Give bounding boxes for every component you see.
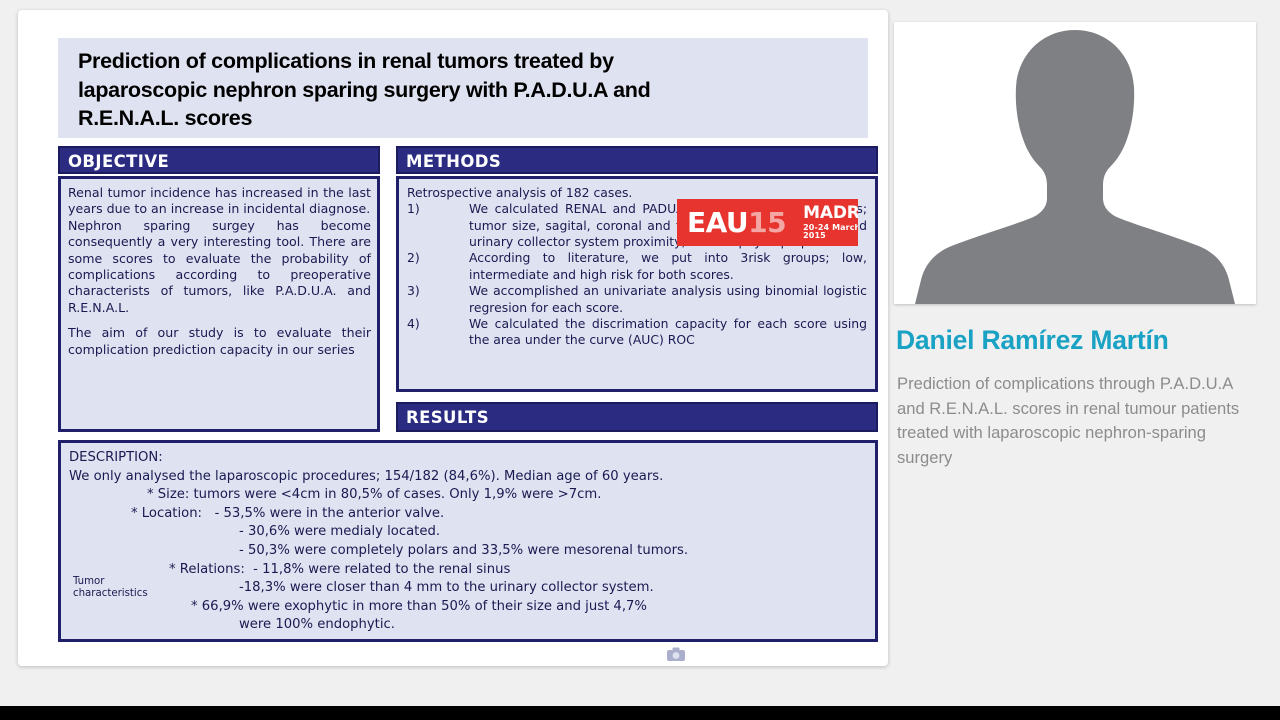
eau-logo-city: MADRID xyxy=(803,205,858,222)
tumor-characteristics-label-line-2: characteristics xyxy=(73,588,181,600)
tumor-characteristics-label: Tumor characteristics xyxy=(73,576,181,601)
camera-icon xyxy=(665,645,687,663)
objective-spacer xyxy=(68,316,371,325)
eau-congress-logo: EAU15 MADRID 20-24 March 2015 xyxy=(677,199,858,246)
screen-root: Prediction of complications in renal tum… xyxy=(0,0,1280,720)
methods-item: 4) We calculated the discrimation capaci… xyxy=(407,316,867,349)
results-line: * Size: tumors were <4cm in 80,5% of cas… xyxy=(69,486,867,505)
tumor-characteristics-label-line-1: Tumor xyxy=(73,576,181,588)
poster: Prediction of complications in renal tum… xyxy=(40,32,868,644)
objective-paragraph: Nephron sparing surgey has become conseq… xyxy=(68,218,371,316)
page-title-line-3: R.E.N.A.L. scores xyxy=(78,104,856,133)
objective-paragraph: The aim of our study is to evaluate thei… xyxy=(68,325,371,358)
eau-logo-year: 15 xyxy=(748,206,786,239)
methods-item-number: 4) xyxy=(407,316,469,349)
author-description: Prediction of complications through P.A.… xyxy=(897,372,1249,470)
methods-item-number: 1) xyxy=(407,201,469,250)
eau-logo-brand-text: EAU xyxy=(687,206,748,239)
eau-logo-brand: EAU15 xyxy=(677,209,786,237)
objective-paragraph: Renal tumor incidence has increased in t… xyxy=(68,185,371,218)
results-line: - 50,3% were completely polars and 33,5%… xyxy=(69,542,867,561)
camera-icon-svg xyxy=(665,645,687,663)
results-line: * 66,9% were exophytic in more than 50% … xyxy=(69,598,867,617)
methods-item: 3) We accomplished an univariate analysi… xyxy=(407,283,867,316)
poster-card[interactable]: Prediction of complications in renal tum… xyxy=(18,10,888,666)
author-name: Daniel Ramírez Martín xyxy=(896,322,1268,358)
bottom-black-bar xyxy=(0,706,1280,720)
page-title-line-2: laparoscopic nephron sparing surgery wit… xyxy=(78,76,856,105)
methods-section-header: METHODS xyxy=(396,146,878,174)
results-section-body: DESCRIPTION: We only analysed the laparo… xyxy=(58,440,878,642)
methods-item-text: We calculated the discrimation capacity … xyxy=(469,316,867,349)
methods-item-text: According to literature, we put into 3ri… xyxy=(469,250,867,283)
methods-item-number: 3) xyxy=(407,283,469,316)
results-line: We only analysed the laparoscopic proced… xyxy=(69,468,867,487)
results-line: * Relations: - 11,8% were related to the… xyxy=(69,561,867,580)
methods-item: 2) According to literature, we put into … xyxy=(407,250,867,283)
objective-section-header: OBJECTIVE xyxy=(58,146,380,174)
objective-section-body: Renal tumor incidence has increased in t… xyxy=(58,176,380,432)
results-line: were 100% endophytic. xyxy=(69,616,867,635)
methods-item-text: We accomplished an univariate analysis u… xyxy=(469,283,867,316)
avatar-placeholder-icon xyxy=(894,22,1256,304)
methods-item-number: 2) xyxy=(407,250,469,283)
results-section-header: RESULTS xyxy=(396,402,878,432)
eau-logo-dates: 20-24 March 2015 xyxy=(803,224,858,240)
page-title: Prediction of complications in renal tum… xyxy=(58,38,868,138)
results-description-label: DESCRIPTION: xyxy=(69,449,867,468)
page-title-line-1: Prediction of complications in renal tum… xyxy=(78,47,856,76)
results-line: -18,3% were closer than 4 mm to the urin… xyxy=(69,579,867,598)
eau-logo-location: MADRID 20-24 March 2015 xyxy=(803,205,858,240)
author-photo-card xyxy=(894,22,1256,304)
results-line: - 30,6% were medialy located. xyxy=(69,523,867,542)
results-line: * Location: - 53,5% were in the anterior… xyxy=(69,505,867,524)
